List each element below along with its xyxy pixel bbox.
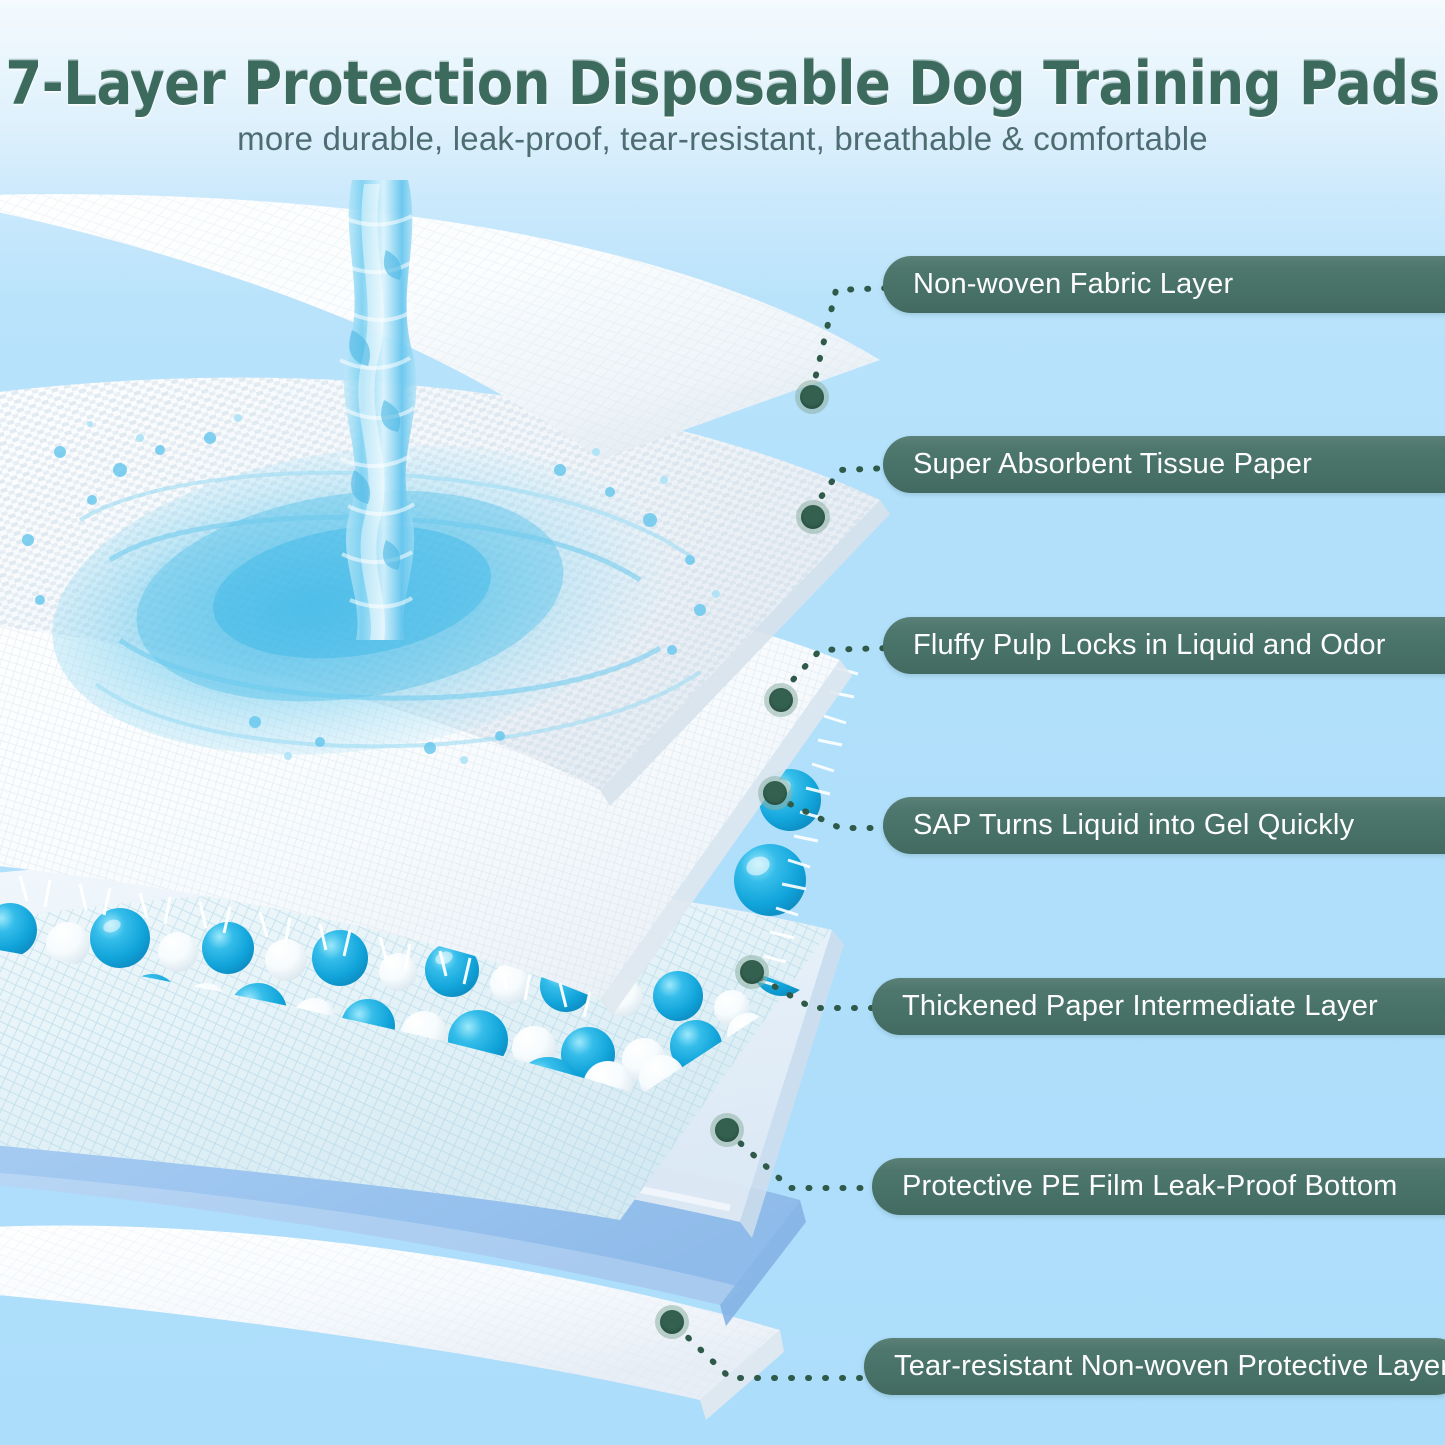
page-subtitle: more durable, leak-proof, tear-resistant… [0, 120, 1445, 158]
leader-line-5 [760, 978, 880, 1008]
layer-callout-label-3: Fluffy Pulp Locks in Liquid and Odor [913, 629, 1386, 662]
layer-marker-1[interactable] [795, 380, 829, 414]
layer-callout-3[interactable]: Fluffy Pulp Locks in Liquid and Odor [883, 617, 1445, 674]
layer-marker-3[interactable] [764, 683, 798, 717]
leader-line-7 [676, 1326, 880, 1378]
header: 7-Layer Protection Disposable Dog Traini… [0, 0, 1445, 180]
layer-callout-label-1: Non-woven Fabric Layer [913, 268, 1233, 301]
callout-group: Non-woven Fabric Layer Super Absorbent T… [0, 0, 1445, 1445]
layer-callout-4[interactable]: SAP Turns Liquid into Gel Quickly [883, 797, 1445, 854]
layer-callout-label-7: Tear-resistant Non-woven Protective Laye… [894, 1350, 1445, 1383]
page-title: 7-Layer Protection Disposable Dog Traini… [0, 50, 1445, 118]
layer-callout-label-4: SAP Turns Liquid into Gel Quickly [913, 809, 1354, 842]
layer-callout-2[interactable]: Super Absorbent Tissue Paper [883, 436, 1445, 493]
layer-callout-5[interactable]: Thickened Paper Intermediate Layer [872, 978, 1445, 1035]
layer-callout-label-5: Thickened Paper Intermediate Layer [902, 990, 1378, 1023]
layer-marker-2[interactable] [796, 500, 830, 534]
layer-callout-1[interactable]: Non-woven Fabric Layer [883, 256, 1445, 313]
layer-callout-6[interactable]: Protective PE Film Leak-Proof Bottom [872, 1158, 1445, 1215]
leader-line-4 [790, 804, 890, 828]
layer-marker-7[interactable] [655, 1305, 689, 1339]
leader-line-6 [728, 1132, 880, 1188]
layer-callout-label-6: Protective PE Film Leak-Proof Bottom [902, 1170, 1398, 1203]
layer-callout-7[interactable]: Tear-resistant Non-woven Protective Laye… [864, 1338, 1445, 1395]
leader-line-3 [782, 648, 890, 692]
layer-marker-5[interactable] [735, 955, 769, 989]
infographic-canvas: 7-Layer Protection Disposable Dog Traini… [0, 0, 1445, 1445]
leader-lines [0, 0, 1445, 1445]
leader-line-1 [812, 288, 890, 392]
layer-callout-label-2: Super Absorbent Tissue Paper [913, 448, 1312, 481]
layer-marker-6[interactable] [710, 1113, 744, 1147]
layer-marker-4[interactable] [758, 776, 792, 810]
